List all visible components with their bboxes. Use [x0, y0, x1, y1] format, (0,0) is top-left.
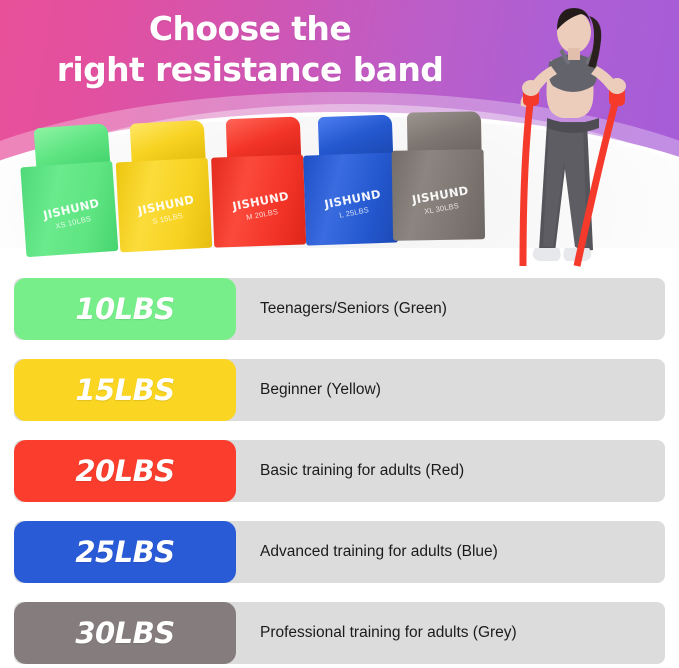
page-title-line-2: right resistance band [0, 49, 500, 90]
band-photo-red: JISHUND M 20LBS [210, 116, 310, 247]
row-description: Teenagers/Seniors (Green) [236, 278, 665, 340]
weight-label: 15LBS [75, 373, 174, 407]
row-description: Professional training for adults (Grey) [236, 602, 665, 664]
band-photo-group: JISHUND XS 10LBS JISHUND S 15LBS JISHUND… [0, 112, 500, 262]
weight-badge: 20LBS [14, 440, 236, 502]
weight-badge: 30LBS [14, 602, 236, 664]
hero-banner: Choose the right resistance band JISHUND… [0, 0, 679, 272]
weight-badge: 15LBS [14, 359, 236, 421]
table-row[interactable]: 25LBS Advanced training for adults (Blue… [14, 521, 665, 583]
table-row[interactable]: 15LBS Beginner (Yellow) [14, 359, 665, 421]
page-title: Choose the right resistance band [0, 8, 500, 91]
band-photo-blue: JISHUND L 25LBS [302, 114, 402, 245]
weight-guide-table: 10LBS Teenagers/Seniors (Green) 15LBS Be… [0, 276, 679, 668]
weight-badge: 25LBS [14, 521, 236, 583]
weight-label: 10LBS [75, 292, 174, 326]
band-photo-green: JISHUND XS 10LBS [18, 123, 123, 257]
weight-label: 30LBS [75, 616, 174, 650]
weight-label: 20LBS [75, 454, 174, 488]
table-row[interactable]: 10LBS Teenagers/Seniors (Green) [14, 278, 665, 340]
infographic-page: Choose the right resistance band JISHUND… [0, 0, 679, 668]
table-row[interactable]: 30LBS Professional training for adults (… [14, 602, 665, 664]
weight-badge: 10LBS [14, 278, 236, 340]
table-row[interactable]: 20LBS Basic training for adults (Red) [14, 440, 665, 502]
weight-label: 25LBS [75, 535, 174, 569]
page-title-line-1: Choose the [0, 8, 500, 49]
row-description: Basic training for adults (Red) [236, 440, 665, 502]
model-photo [469, 0, 679, 272]
row-description: Beginner (Yellow) [236, 359, 665, 421]
band-photo-yellow: JISHUND S 15LBS [114, 120, 217, 253]
row-description: Advanced training for adults (Blue) [236, 521, 665, 583]
